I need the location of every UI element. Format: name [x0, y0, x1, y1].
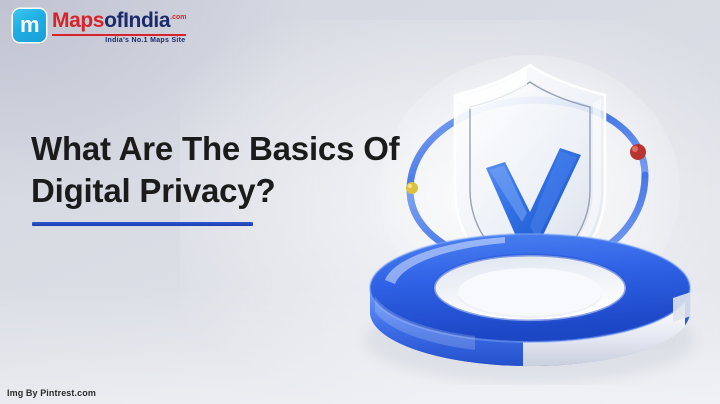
page-title-line-1: What Are The Basics Of — [31, 128, 451, 170]
brand-logo[interactable]: m MapsofIndia.com India's No.1 Maps Site — [13, 9, 186, 44]
logo-mark-icon: m — [13, 9, 46, 42]
orbit-node-red — [630, 144, 646, 160]
page-title-line-2: Digital Privacy? — [31, 170, 451, 212]
hero-graphic — [355, 40, 720, 385]
logo-tagline: India's No.1 Maps Site — [105, 37, 186, 44]
logo-divider — [52, 34, 186, 36]
logo-word-maps: Maps — [52, 9, 104, 32]
image-credit: Img By Pintrest.com — [7, 388, 96, 398]
logo-text-block: MapsofIndia.com India's No.1 Maps Site — [52, 9, 186, 44]
logo-tld: .com — [170, 14, 186, 21]
slide-canvas: m MapsofIndia.com India's No.1 Maps Site… — [0, 0, 720, 404]
logo-word-of: of — [104, 9, 123, 32]
logo-wordmark: MapsofIndia.com — [52, 10, 186, 33]
ring-pedestal — [365, 234, 695, 384]
logo-word-india: India — [123, 9, 170, 32]
title-underline-accent — [32, 222, 253, 226]
page-title: What Are The Basics Of Digital Privacy? — [31, 128, 451, 212]
